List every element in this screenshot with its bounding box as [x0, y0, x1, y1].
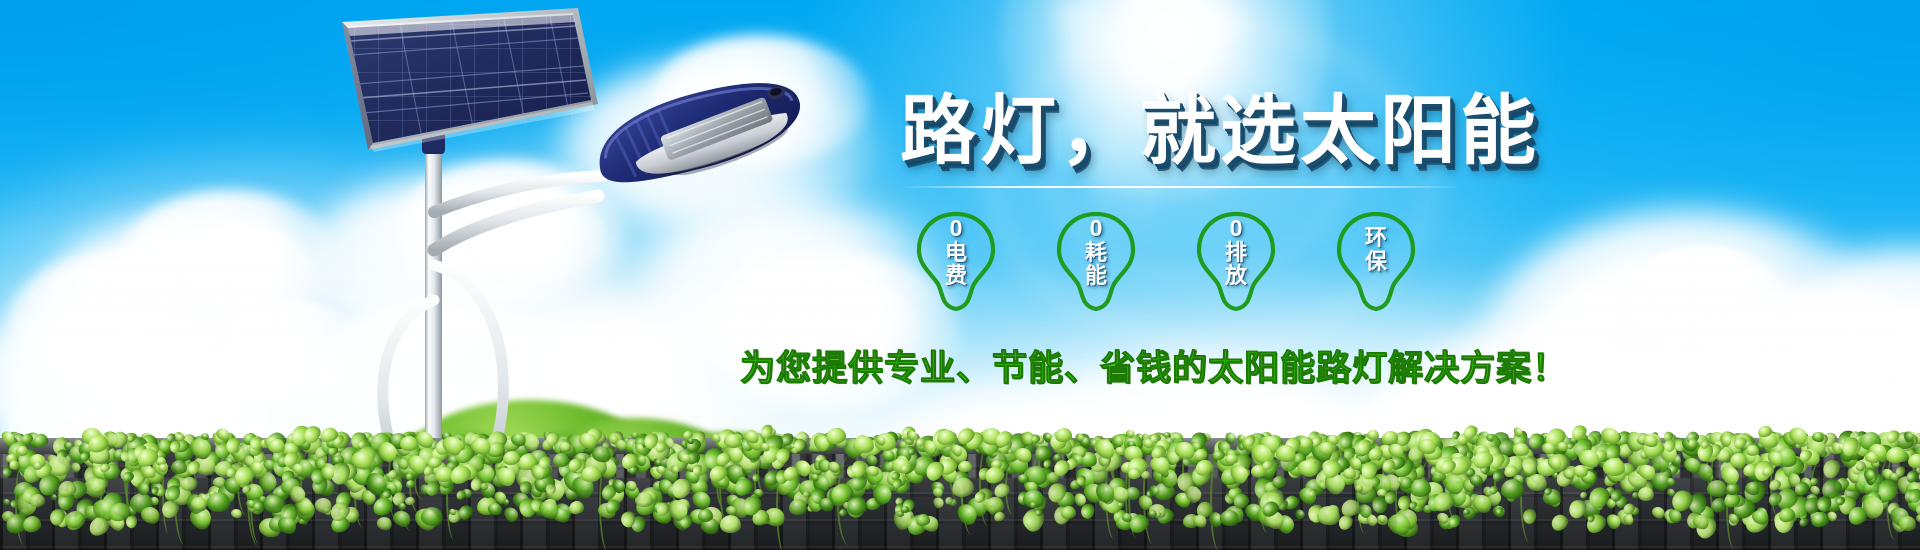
- divider: [900, 186, 1460, 188]
- feature-badge-eco-friendly[interactable]: 环 保: [1334, 210, 1418, 314]
- feature-badge-zero-electricity-bill[interactable]: 0 电 费: [914, 210, 998, 314]
- feature-badge-text: 0 排 放: [1194, 216, 1278, 288]
- badge-label-top: 耗: [1054, 241, 1138, 265]
- banner-subtitle: 为您提供专业、节能、省钱的太阳能路灯解决方案！: [740, 340, 1780, 391]
- badge-label-bottom: 能: [1054, 264, 1138, 288]
- badge-label-bottom: 费: [914, 264, 998, 288]
- badge-label-bottom: 保: [1334, 250, 1418, 274]
- badge-label-top: 排: [1194, 241, 1278, 265]
- badge-zero: 0: [1054, 216, 1138, 241]
- feature-badge-text: 0 电 费: [914, 216, 998, 288]
- badge-zero: 0: [914, 216, 998, 241]
- badge-label-top: 环: [1334, 226, 1418, 250]
- solar-panel: [342, 8, 598, 152]
- feature-badge-zero-emission[interactable]: 0 排 放: [1194, 210, 1278, 314]
- badge-label-bottom: 放: [1194, 264, 1278, 288]
- feature-badge-zero-energy-use[interactable]: 0 耗 能: [1054, 210, 1138, 314]
- feature-badge-text: 0 耗 能: [1054, 216, 1138, 288]
- page-title: 路灯，就选太阳能: [900, 92, 1780, 172]
- led-lamp-head: [587, 66, 810, 198]
- feature-badge-text: 环 保: [1334, 226, 1418, 274]
- tiled-wall: [0, 438, 1920, 550]
- wall-cap: [0, 438, 1920, 454]
- banner-text-block: 路灯，就选太阳能 0 电 费 0 耗 能: [900, 92, 1780, 391]
- solar-streetlight-banner: 路灯，就选太阳能 0 电 费 0 耗 能: [0, 0, 1920, 550]
- badge-label-top: 电: [914, 241, 998, 265]
- badge-zero: 0: [1194, 216, 1278, 241]
- feature-badge-list: 0 电 费 0 耗 能 0: [900, 210, 1780, 314]
